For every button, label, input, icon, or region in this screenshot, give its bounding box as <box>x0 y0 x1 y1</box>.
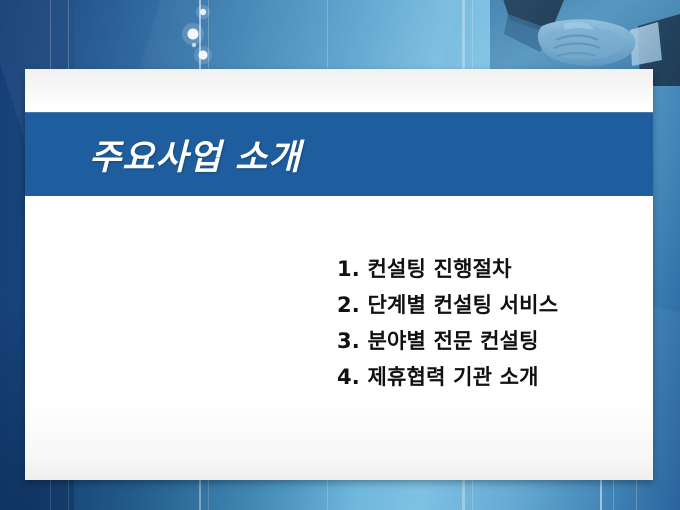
list-item: 4. 제휴협력 기관 소개 <box>337 359 558 395</box>
title-bar: 주요사업 소개 <box>25 112 653 196</box>
list-item-label: 제휴협력 기관 소개 <box>368 365 539 389</box>
list-item: 1. 컨설팅 진행절차 <box>337 251 558 287</box>
list-item: 2. 단계별 컨설팅 서비스 <box>337 287 558 323</box>
content-card: 주요사업 소개 1. 컨설팅 진행절차 2. 단계별 컨설팅 서비스 3. 분야… <box>25 69 653 480</box>
list-item: 3. 분야별 전문 컨설팅 <box>337 323 558 359</box>
agenda-list: 1. 컨설팅 진행절차 2. 단계별 컨설팅 서비스 3. 분야별 전문 컨설팅… <box>337 251 558 395</box>
card-header-strip <box>25 69 653 112</box>
list-item-number: 4. <box>337 365 360 389</box>
list-item-label: 분야별 전문 컨설팅 <box>368 329 539 353</box>
card-body: 1. 컨설팅 진행절차 2. 단계별 컨설팅 서비스 3. 분야별 전문 컨설팅… <box>25 196 653 480</box>
page-title: 주요사업 소개 <box>89 129 301 180</box>
list-item-number: 2. <box>337 293 360 317</box>
list-item-number: 1. <box>337 257 360 281</box>
presentation-slide: 주요사업 소개 1. 컨설팅 진행절차 2. 단계별 컨설팅 서비스 3. 분야… <box>0 0 680 510</box>
list-item-label: 컨설팅 진행절차 <box>368 257 512 281</box>
list-item-number: 3. <box>337 329 360 353</box>
list-item-label: 단계별 컨설팅 서비스 <box>368 293 559 317</box>
